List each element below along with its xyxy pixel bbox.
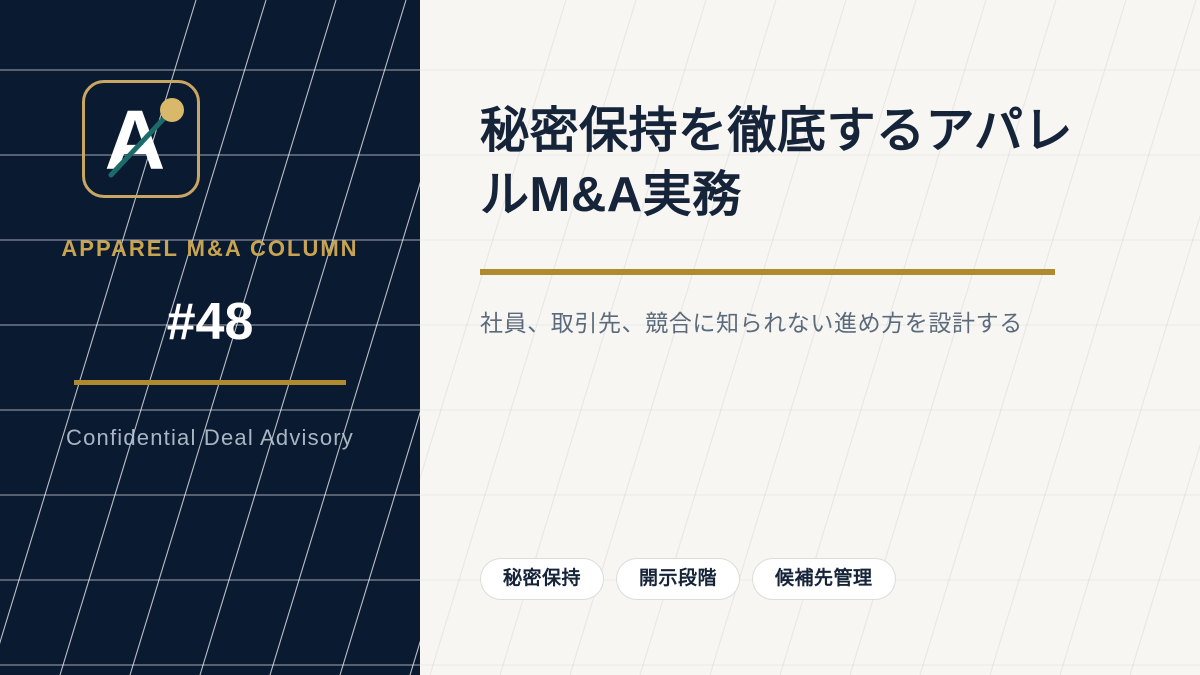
issue-number: #48 [0,296,420,348]
left-text-block: APPAREL M&A COLUMN #48 Confidential Deal… [0,238,420,449]
gold-divider-right [480,269,1055,275]
tag-pill[interactable]: 開示段階 [616,558,740,600]
logo-a-badge-icon: A [85,83,197,195]
column-kicker: APPAREL M&A COLUMN [0,238,420,260]
gold-dot-icon [160,98,184,122]
tag-list: 秘密保持 開示段階 候補先管理 [480,558,896,600]
page-subtitle: 社員、取引先、競合に知られない進め方を設計する [480,306,1140,341]
tag-pill[interactable]: 候補先管理 [752,558,896,600]
brand-tagline: Confidential Deal Advisory [0,427,420,449]
left-brand-panel: A APPAREL M&A COLUMN #48 Confidential De… [0,0,420,675]
right-content-panel: 秘密保持を徹底するアパレルM&A実務 社員、取引先、競合に知られない進め方を設計… [420,0,1200,675]
gold-divider-left [74,380,346,385]
column-cover-slide: A APPAREL M&A COLUMN #48 Confidential De… [0,0,1200,675]
logo-badge: A [82,80,200,198]
page-title: 秘密保持を徹底するアパレルM&A実務 [480,100,1120,227]
tag-pill[interactable]: 秘密保持 [480,558,604,600]
